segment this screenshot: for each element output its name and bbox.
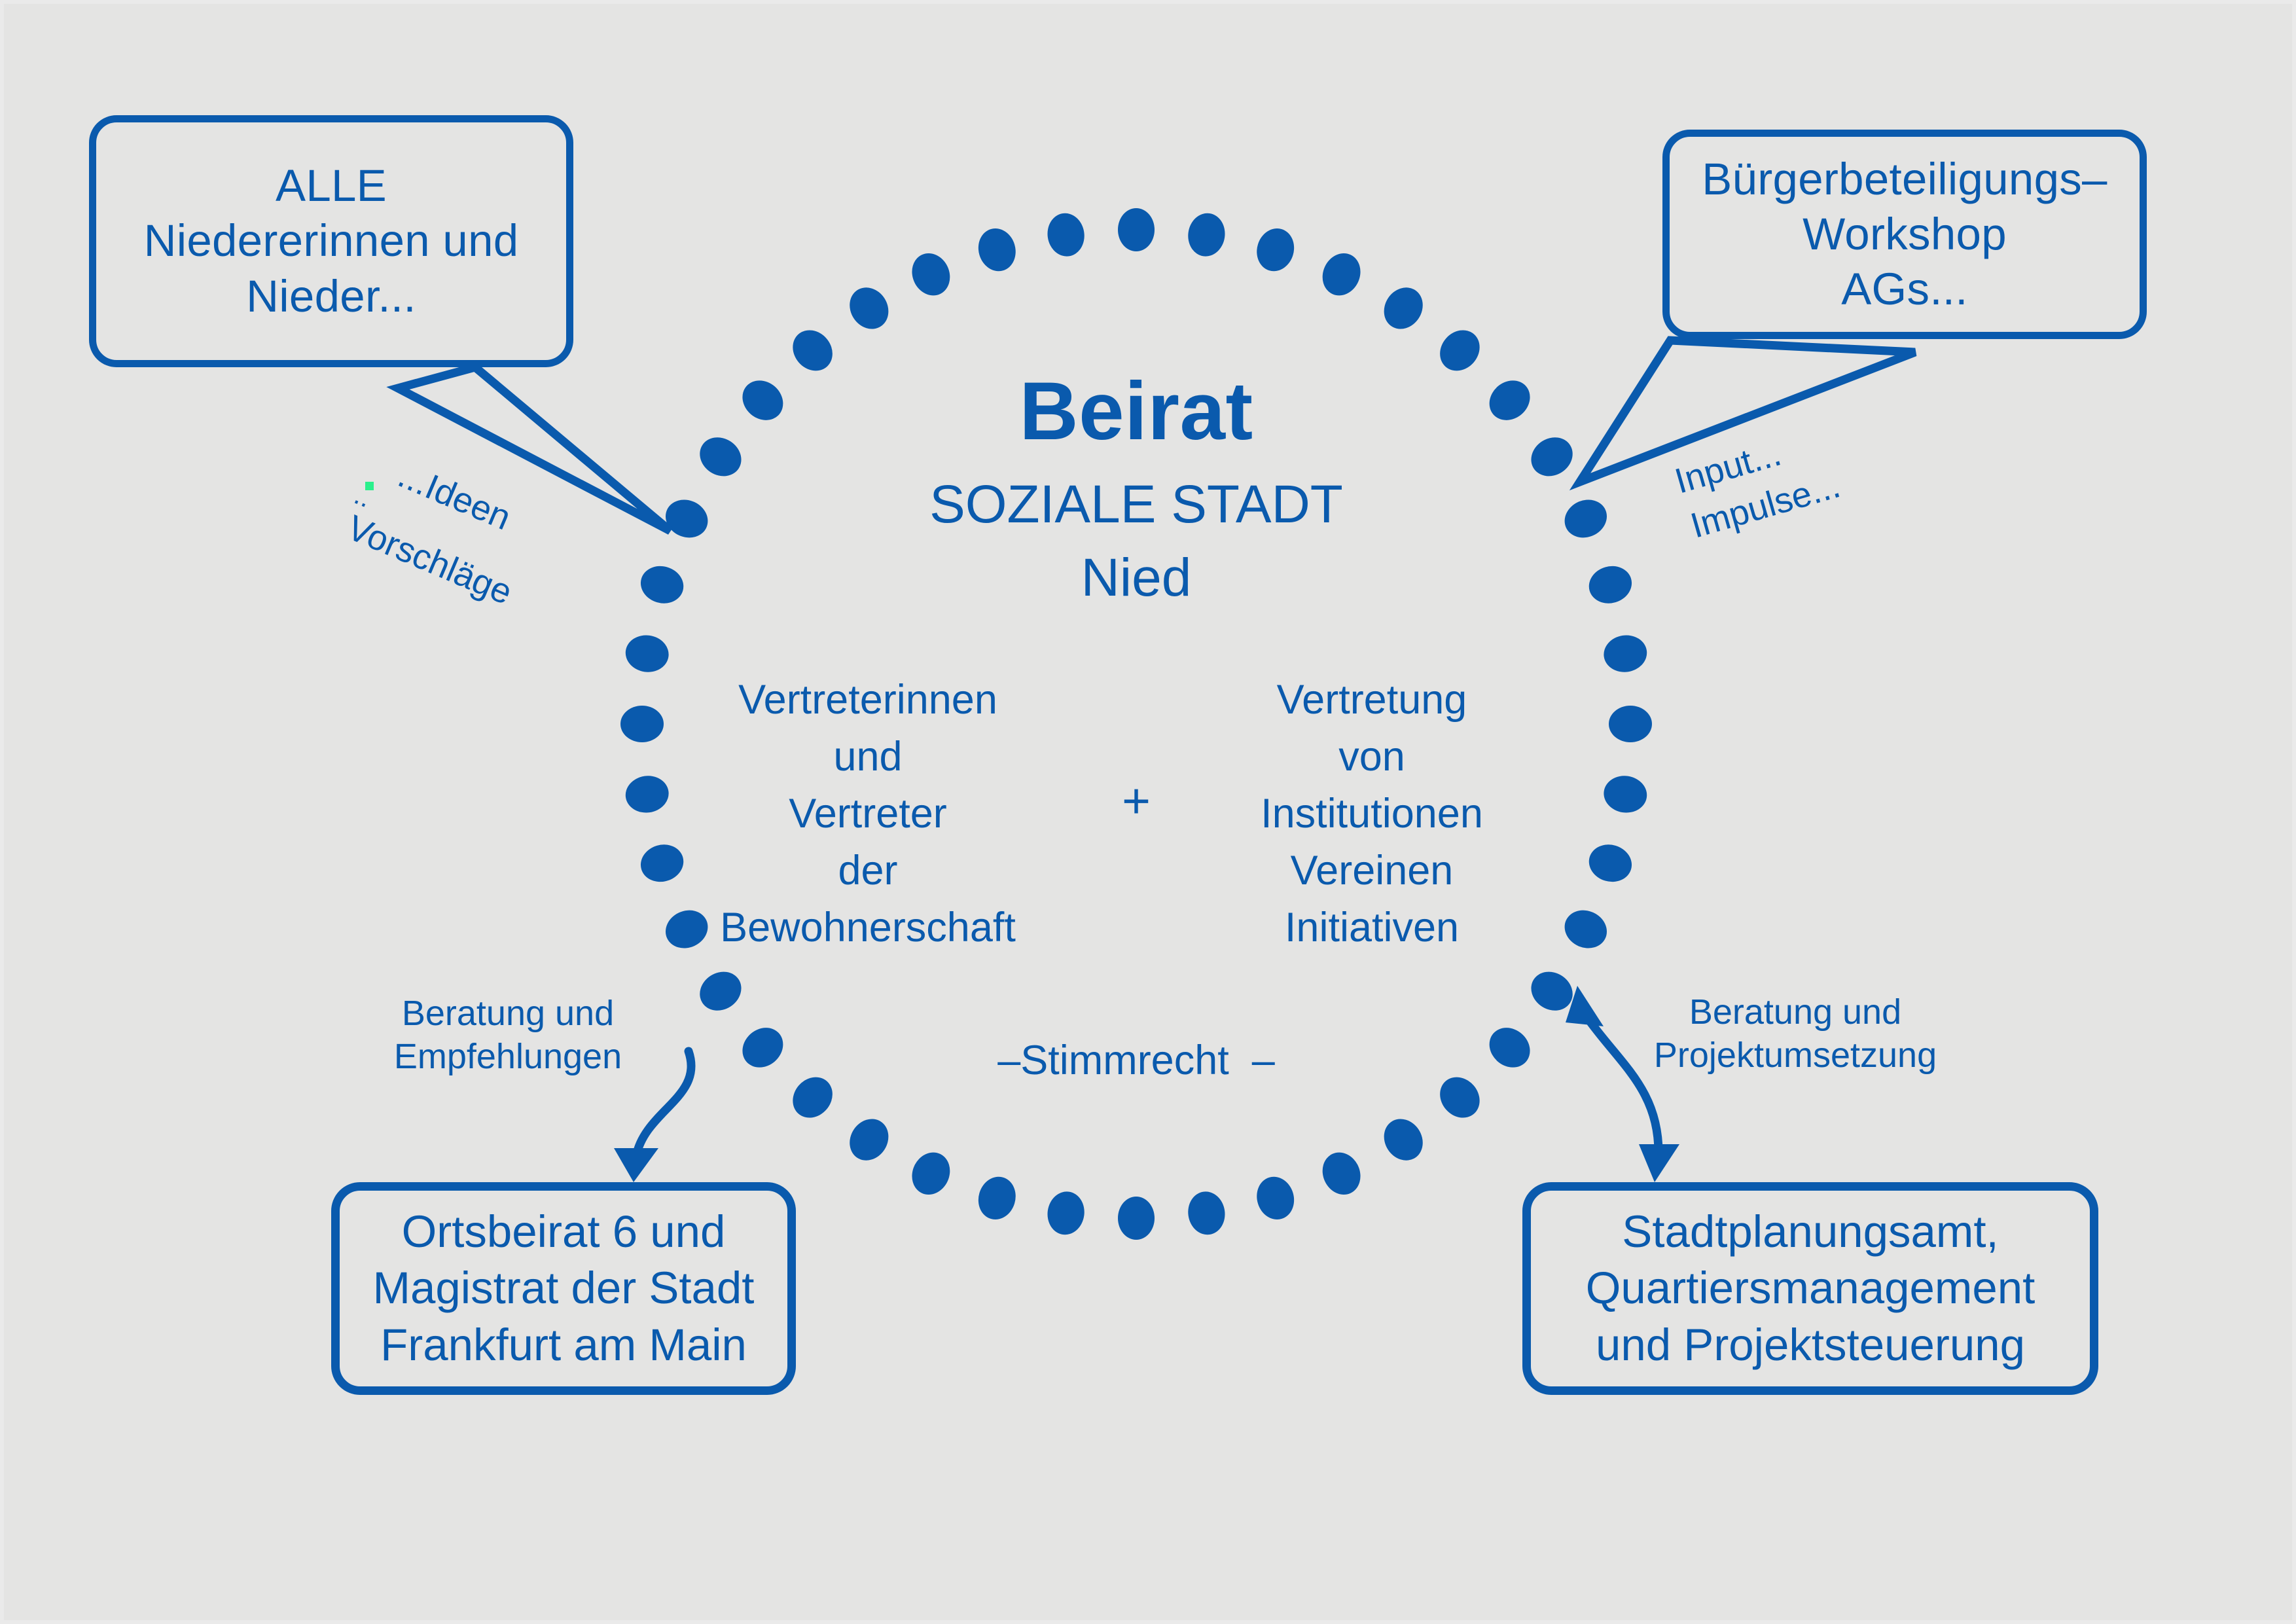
members-institutions-column: Vertretung von Institutionen Vereinen In… (1208, 672, 1535, 956)
circle-dot (1376, 280, 1431, 336)
speech-bubble-participation[interactable]: Bürgerbeteiligungs– Workshop AGs... (1662, 130, 2147, 339)
speech-bubble-residents[interactable]: ALLE Niedererinnen und Nieder... (89, 115, 573, 367)
circle-dot (785, 1069, 841, 1126)
voting-rights-label: –Stimmrecht – (907, 1037, 1365, 1084)
node-stadtplanungsamt-label: Stadtplanungsamt, Quartiersmanagement un… (1586, 1204, 2036, 1373)
circle-dot (636, 840, 688, 887)
node-stadtplanungsamt[interactable]: Stadtplanungsamt, Quartiersmanagement un… (1522, 1182, 2098, 1395)
plus-icon: + (1084, 776, 1189, 825)
circle-dot (1558, 903, 1613, 954)
members-residents-column: Vertreterinnen und Vertreter der Bewohne… (685, 672, 1051, 956)
circle-dot (1481, 1020, 1538, 1076)
circle-dot (1118, 1197, 1155, 1240)
circle-dot (842, 1111, 896, 1168)
page-title: Beirat (809, 370, 1463, 452)
circle-dot (623, 632, 671, 675)
annotation-beratung-projektumsetzung: Beratung und Projektumsetzung (1641, 991, 1949, 1077)
circle-dot (1316, 1146, 1367, 1200)
speech-bubble-residents-label: ALLE Niedererinnen und Nieder... (144, 158, 519, 324)
circle-dot (1118, 208, 1155, 251)
circle-dot (1432, 1069, 1488, 1126)
circle-dot (1376, 1111, 1431, 1168)
circle-dot (734, 1020, 791, 1076)
node-ortsbeirat-magistrat-label: Ortsbeirat 6 und Magistrat der Stadt Fra… (373, 1204, 755, 1373)
circle-dot (1558, 493, 1613, 544)
circle-dot (1185, 1189, 1228, 1237)
circle-dot (1585, 840, 1636, 887)
circle-dot (1252, 1172, 1299, 1224)
circle-dot (1045, 211, 1087, 259)
circle-dot (692, 429, 749, 484)
circle-dot (842, 280, 896, 336)
circle-dot (660, 493, 714, 544)
arrow-to-ortsbeirat-head (614, 1148, 658, 1182)
diagram-canvas: ALLE Niedererinnen und Nieder... Bürgerb… (0, 0, 2296, 1624)
circle-dot (905, 1146, 956, 1200)
circle-dot (973, 1172, 1020, 1224)
circle-dot (692, 964, 749, 1019)
subtitle-soziale-stadt: SOZIALE STADT (809, 475, 1463, 534)
circle-dot (1609, 706, 1652, 742)
speech-bubble-participation-label: Bürgerbeteiligungs– Workshop AGs... (1702, 152, 2107, 317)
circle-dot (1524, 429, 1580, 484)
node-ortsbeirat-magistrat[interactable]: Ortsbeirat 6 und Magistrat der Stadt Fra… (331, 1182, 796, 1395)
subtitle-nied: Nied (809, 549, 1463, 607)
arrow-down-head (1639, 1144, 1679, 1182)
circle-dot (1585, 561, 1636, 608)
circle-dot (1602, 632, 1649, 675)
circle-dot (620, 706, 664, 742)
circle-dot (1481, 372, 1538, 429)
circle-dot (1252, 224, 1299, 276)
circle-dot (1316, 247, 1367, 302)
circle-dot (636, 561, 688, 608)
circle-dot (1045, 1189, 1087, 1237)
circle-dot (1185, 211, 1228, 259)
circle-dot (905, 247, 956, 302)
circle-dot (1602, 773, 1649, 816)
annotation-beratung-empfehlungen: Beratung und Empfehlungen (370, 992, 645, 1079)
circle-dot (734, 372, 791, 429)
circle-dot (973, 224, 1020, 276)
circle-dot (623, 773, 671, 816)
